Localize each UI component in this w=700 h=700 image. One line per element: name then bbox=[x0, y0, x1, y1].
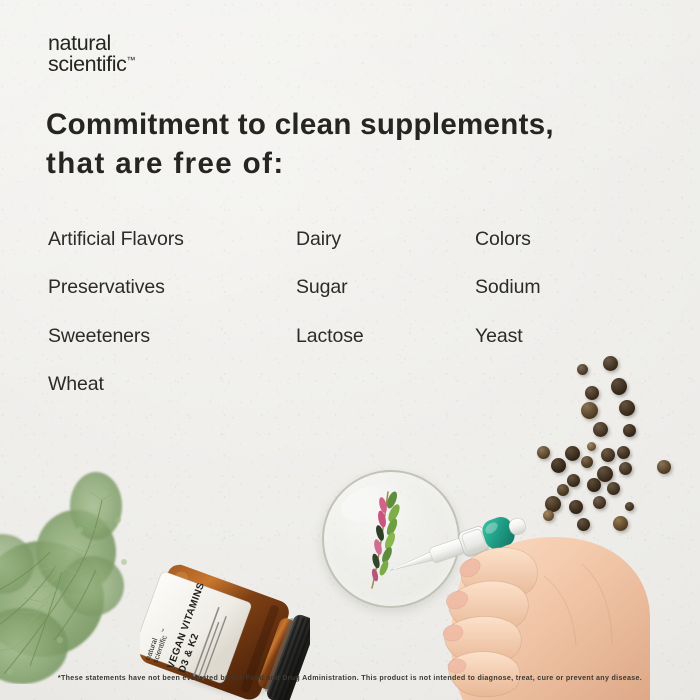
free-of-item: Dairy bbox=[296, 228, 474, 250]
free-of-item: Yeast bbox=[474, 325, 648, 347]
fda-disclaimer: *These statements have not been evaluate… bbox=[0, 674, 700, 682]
page-title-line-1: Commitment to clean supplements, bbox=[46, 106, 666, 145]
brand-logo-word: scientific bbox=[48, 52, 126, 76]
free-of-list: Artificial Flavors Dairy Colors Preserva… bbox=[48, 228, 648, 396]
free-of-item: Colors bbox=[474, 228, 648, 250]
free-of-item: Wheat bbox=[48, 373, 296, 395]
free-of-item: Sodium bbox=[474, 276, 648, 298]
free-of-item: Lactose bbox=[296, 325, 474, 347]
free-of-item: Artificial Flavors bbox=[48, 228, 296, 250]
trademark-symbol: ™ bbox=[126, 55, 135, 65]
page-title: Commitment to clean supplements, that ar… bbox=[46, 106, 666, 184]
brand-logo-line-1: natural bbox=[48, 33, 135, 54]
free-of-item: Preservatives bbox=[48, 276, 296, 298]
brand-logo: natural scientific™ bbox=[48, 33, 135, 75]
brand-logo-line-2: scientific™ bbox=[48, 54, 135, 75]
free-of-item: Sugar bbox=[296, 276, 474, 298]
free-of-item: Sweeteners bbox=[48, 325, 296, 347]
content-layer: natural scientific™ Commitment to clean … bbox=[0, 0, 700, 700]
page-title-line-2: that are free of: bbox=[46, 145, 666, 184]
